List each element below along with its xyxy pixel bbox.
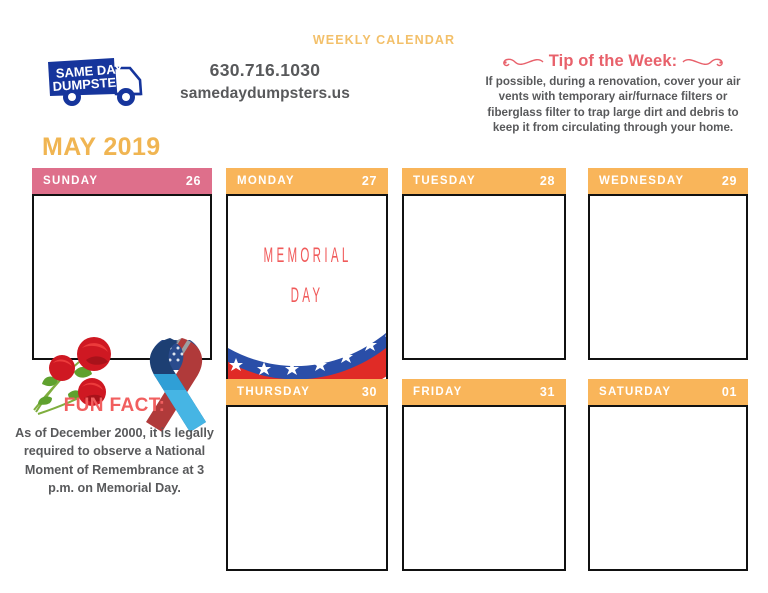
contact-block: 630.716.1030 samedaydumpsters.us [150,60,380,103]
day-cell-wednesday[interactable]: WEDNESDAY 29 [588,168,748,360]
day-header-friday: FRIDAY 31 [402,379,566,405]
fun-fact-block: FUN FACT: As of December 2000, it is leg… [12,395,217,497]
day-name: SATURDAY [599,386,671,398]
day-content-friday[interactable] [402,405,566,571]
day-cell-tuesday[interactable]: TUESDAY 28 [402,168,566,360]
day-number: 26 [186,174,201,188]
day-content-tuesday[interactable] [402,194,566,360]
tip-of-the-week: Tip of the Week: If possible, during a r… [470,52,756,136]
day-cell-monday[interactable]: MONDAY 27 MEMORIAL DAY [226,168,388,394]
day-number: 31 [540,385,555,399]
day-header-monday: MONDAY 27 [226,168,388,194]
day-content-saturday[interactable]: 5 w 5 m [588,405,748,571]
website-url[interactable]: samedaydumpsters.us [150,85,380,103]
day-number: 29 [722,174,737,188]
day-name: TUESDAY [413,175,476,187]
company-logo[interactable]: SAME DAY DUMPSTERS [42,54,154,110]
day-cell-thursday[interactable]: THURSDAY 30 [226,379,388,571]
day-header-tuesday: TUESDAY 28 [402,168,566,194]
flourish-left-icon [501,54,545,70]
day-header-thursday: THURSDAY 30 [226,379,388,405]
calendar-page: WEEKLY CALENDAR SAME DAY DUMPSTERS 630.7… [0,0,768,593]
day-header-wednesday: WEDNESDAY 29 [588,168,748,194]
page-title: WEEKLY CALENDAR [0,33,768,47]
month-label: MAY 2019 [42,133,161,162]
day-number: 01 [722,385,737,399]
day-header-saturday: SATURDAY 01 [588,379,748,405]
day-name: SUNDAY [43,175,98,187]
day-number: 27 [362,174,377,188]
tip-title: Tip of the Week: [549,52,677,71]
tip-body: If possible, during a renovation, cover … [470,74,756,136]
day-name: MONDAY [237,175,295,187]
dumpster-truck-icon: SAME DAY DUMPSTERS [42,54,154,110]
day-cell-friday[interactable]: FRIDAY 31 [402,379,566,571]
day-name: THURSDAY [237,386,310,398]
day-content-wednesday[interactable] [588,194,748,360]
tip-header: Tip of the Week: [470,52,756,71]
flag-swoosh-icon [226,278,388,394]
memorial-line-1: MEMORIAL [264,244,351,268]
flourish-right-icon [681,54,725,70]
fun-fact-title: FUN FACT: [12,395,217,417]
day-content-thursday[interactable] [226,405,388,571]
day-number: 28 [540,174,555,188]
fun-fact-body: As of December 2000, it is legally requi… [12,424,217,497]
day-name: FRIDAY [413,386,463,398]
day-content-monday[interactable]: MEMORIAL DAY [226,194,388,394]
phone-number[interactable]: 630.716.1030 [150,60,380,81]
day-cell-saturday[interactable]: SATURDAY 01 5 w 5 m [588,379,748,571]
day-header-sunday: SUNDAY 26 [32,168,212,194]
memorial-day-graphic: MEMORIAL DAY [228,196,386,392]
day-number: 30 [362,385,377,399]
day-name: WEDNESDAY [599,175,684,187]
